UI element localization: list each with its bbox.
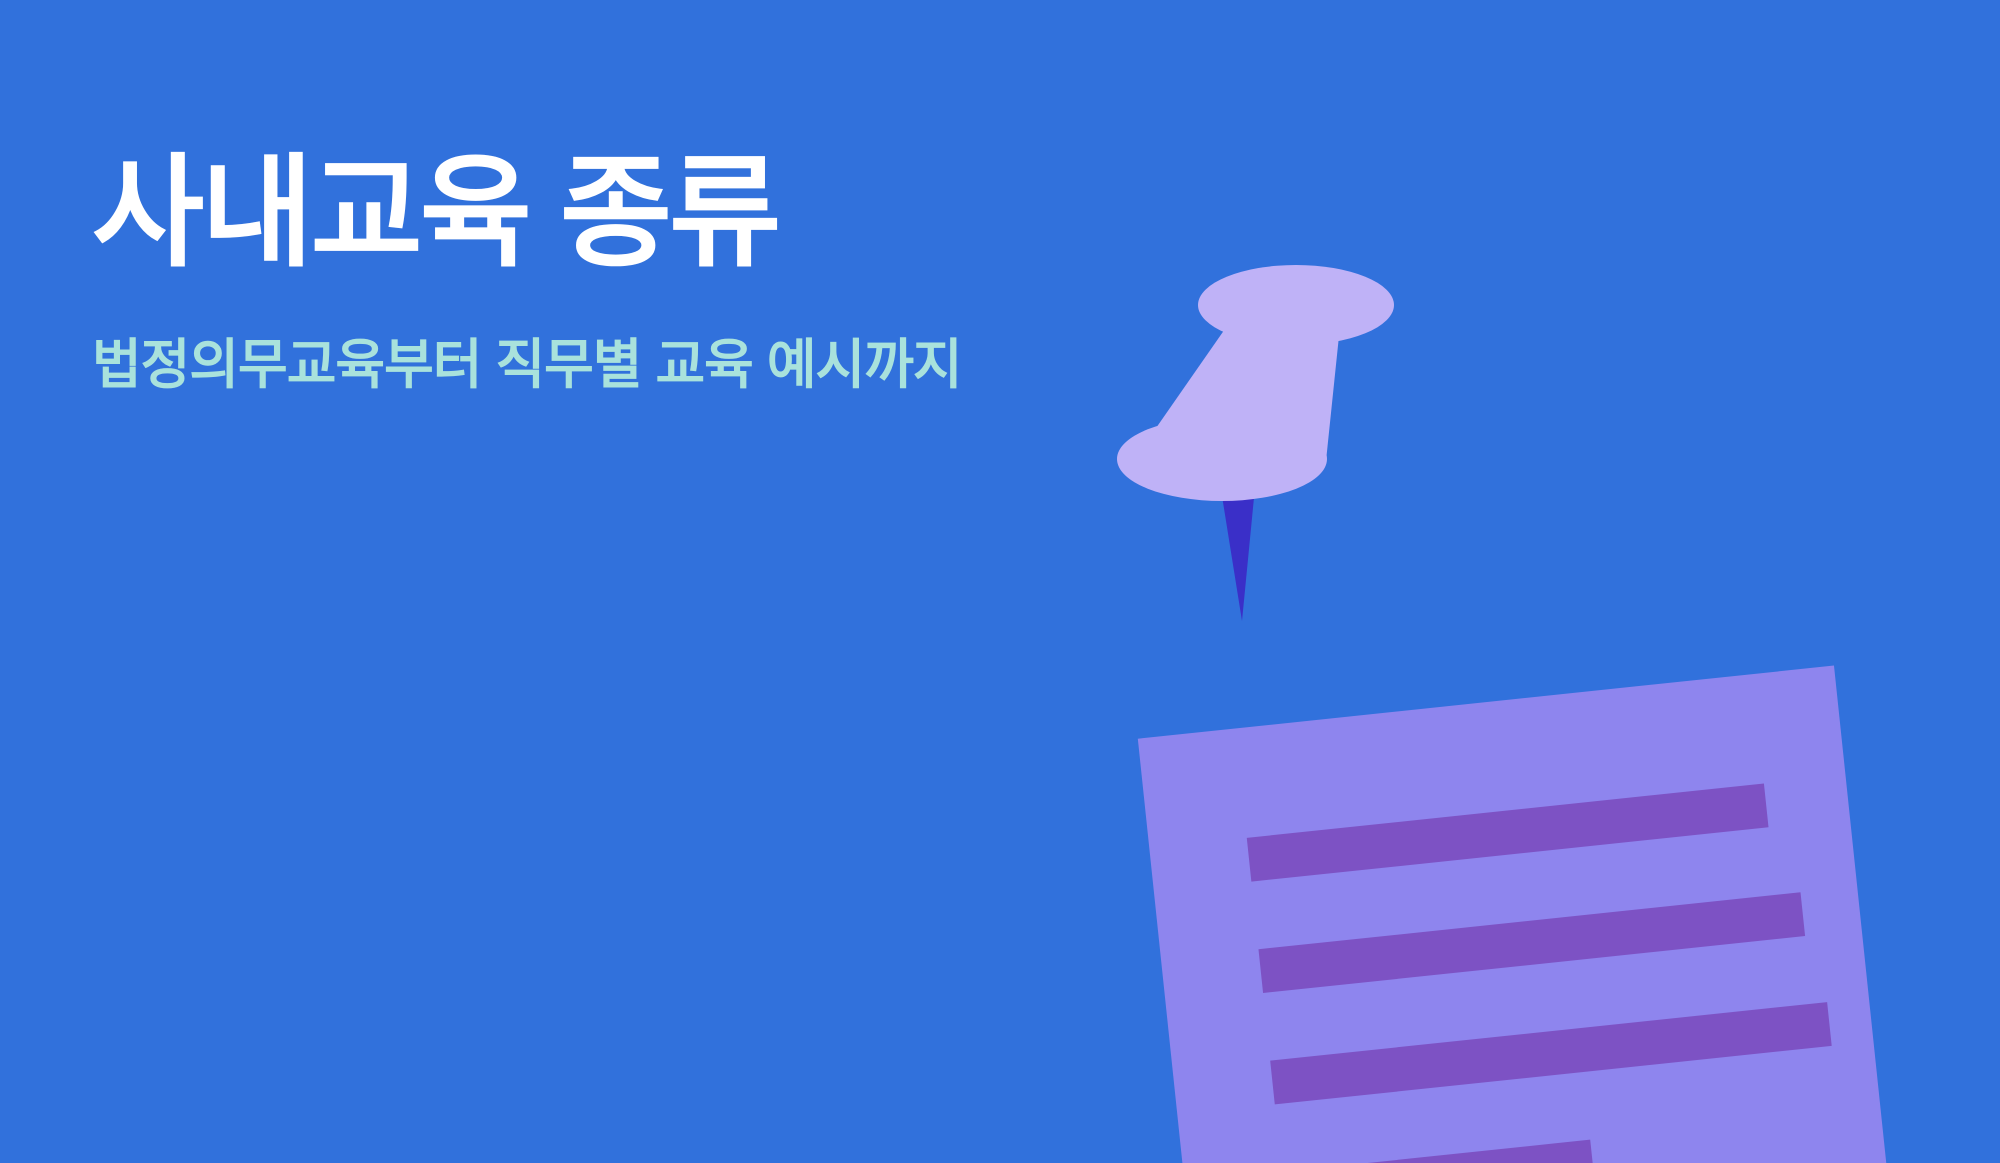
page-subtitle: 법정의무교육부터 직무별 교육 예시까지 bbox=[92, 277, 1292, 398]
note-paper-group bbox=[1138, 666, 1901, 1163]
page-title: 사내교육 종류 bbox=[92, 150, 1292, 277]
banner-text-block: 사내교육 종류 법정의무교육부터 직무별 교육 예시까지 bbox=[92, 150, 1292, 398]
banner: 사내교육 종류 법정의무교육부터 직무별 교육 예시까지 bbox=[0, 0, 2000, 1163]
pinned-note-illustration bbox=[950, 263, 2000, 1163]
